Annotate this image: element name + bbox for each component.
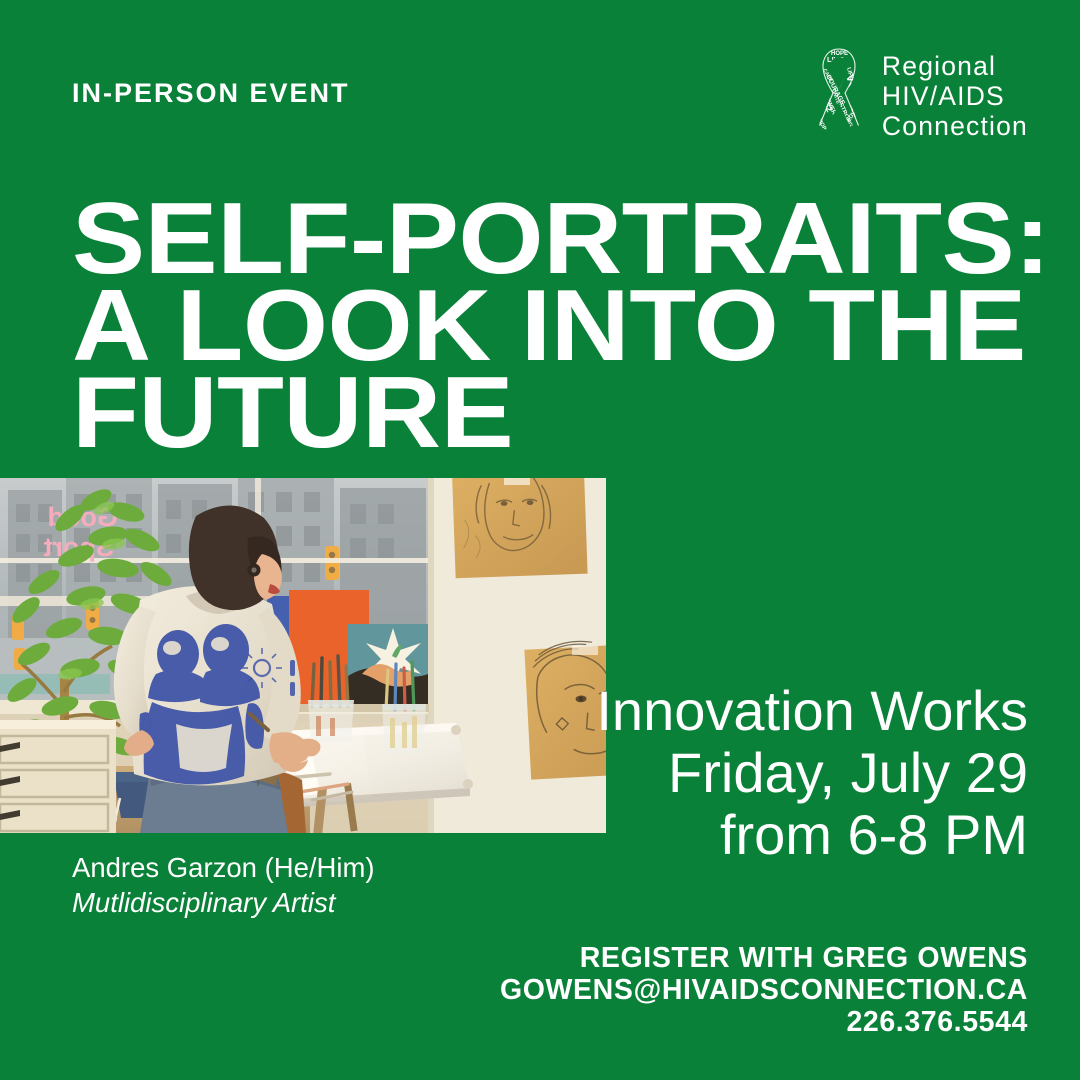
registration-info: REGISTER WITH GREG OWENS GOWENS@HIVAIDSC…	[500, 942, 1028, 1038]
logo-line-regional: Regional	[882, 52, 1028, 82]
logo-line-connection: Connection	[882, 112, 1028, 142]
event-time: from 6-8 PM	[596, 804, 1028, 866]
studio-photo-illustration: Good Sport	[0, 478, 606, 833]
event-type-label: IN-PERSON EVENT	[72, 80, 350, 107]
page-title: SELF-PORTRAITS: A LOOK INTO THE FUTURE	[72, 196, 1052, 457]
register-phone[interactable]: 226.376.5544	[500, 1006, 1028, 1038]
artist-role: Mutlidisciplinary Artist	[72, 885, 375, 920]
svg-text:LIVE: LIVE	[827, 55, 844, 64]
register-contact-line: REGISTER WITH GREG OWENS	[500, 942, 1028, 974]
logo-line-hivaids: HIV/AIDS	[882, 82, 1028, 112]
event-venue: Innovation Works	[596, 680, 1028, 742]
event-poster: IN-PERSON EVENT HOPE LIVE LIFE CARE VOIC…	[0, 0, 1080, 1080]
artist-name: Andres Garzon (He/Him)	[72, 850, 375, 885]
event-details: Innovation Works Friday, July 29 from 6-…	[596, 680, 1028, 866]
title-line-3: FUTURE	[72, 370, 1080, 457]
awareness-ribbon-wordcloud-icon: HOPE LIVE LIFE CARE VOICE COURAGE EMPOWE…	[810, 46, 868, 142]
studio-photograph: Good Sport	[0, 478, 606, 833]
event-date: Friday, July 29	[596, 742, 1028, 804]
register-email[interactable]: GOWENS@HIVAIDSCONNECTION.CA	[500, 974, 1028, 1006]
artist-credit: Andres Garzon (He/Him) Mutlidisciplinary…	[72, 850, 375, 920]
svg-text:TRUST: TRUST	[826, 130, 839, 142]
organization-logo: HOPE LIVE LIFE CARE VOICE COURAGE EMPOWE…	[810, 46, 1028, 142]
